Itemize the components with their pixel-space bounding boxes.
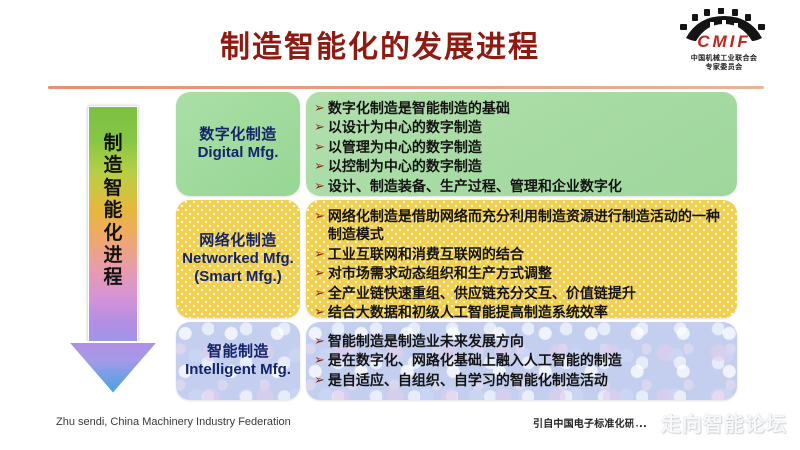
list-item: ➢ 结合大数据和初级人工智能提高制造系统效率	[314, 304, 727, 322]
list-item: ➢ 是自适应、自组织、自学习的智能化制造活动	[314, 372, 727, 390]
arrow-char-2: 智	[88, 177, 138, 199]
page-title: 制造智能化的发展进程	[0, 22, 760, 66]
forum-watermark: 走向智能论坛	[630, 402, 795, 442]
slide-canvas: 制造智能化的发展进程	[0, 0, 800, 450]
row-content-intelligent: ➢ 智能制造是制造业未来发展方向 ➢ 是在数字化、网路化基础上融入人工智能的制造…	[306, 322, 737, 400]
bullet-text: 网络化制造是借助网络而充分利用制造资源进行制造活动的一种制造模式	[328, 208, 727, 245]
title-divider	[48, 86, 764, 89]
arrow-char-0: 制	[88, 132, 138, 154]
row-content-digital: ➢ 数字化制造是智能制造的基础 ➢ 以设计为中心的数字制造 ➢ 以管理为中心的数…	[306, 92, 737, 196]
bullet-text: 对市场需求动态组织和生产方式调整	[328, 265, 727, 283]
list-item: ➢ 以控制为中心的数字制造	[314, 158, 727, 176]
bullet-text: 结合大数据和初级人工智能提高制造系统效率	[328, 304, 727, 322]
bullet-text: 以设计为中心的数字制造	[328, 119, 727, 137]
row-content-networked: ➢ 网络化制造是借助网络而充分利用制造资源进行制造活动的一种制造模式 ➢ 工业互…	[306, 200, 737, 318]
progress-arrow: 制 造 智 能 化 进 程	[66, 106, 160, 396]
list-item: ➢ 全产业链快速重组、供应链充分交互、价值链提升	[314, 285, 727, 303]
bullet-text: 数字化制造是智能制造的基础	[328, 100, 727, 118]
bullet-arrow-icon: ➢	[314, 333, 325, 350]
watermark-text: 走向智能论坛	[661, 408, 787, 437]
bullet-arrow-icon: ➢	[314, 158, 325, 175]
row-label-en: Intelligent Mfg.	[185, 361, 291, 380]
row-label-en-alt: (Smart Mfg.)	[194, 268, 282, 287]
list-item: ➢ 网络化制造是借助网络而充分利用制造资源进行制造活动的一种制造模式	[314, 208, 727, 245]
cmif-logo: CMIF 中国机械工业联合会 专家委员会	[666, 8, 782, 78]
row-label-cn: 网络化制造	[199, 231, 277, 250]
row-label-digital: 数字化制造 Digital Mfg.	[176, 92, 300, 196]
arrow-char-3: 能	[88, 199, 138, 221]
arrow-char-1: 造	[88, 154, 138, 176]
list-item: ➢ 对市场需求动态组织和生产方式调整	[314, 265, 727, 283]
arrow-head	[66, 340, 160, 396]
row-label-cn: 智能制造	[207, 342, 269, 361]
bullet-text: 以管理为中心的数字制造	[328, 139, 727, 157]
bullet-arrow-icon: ➢	[314, 285, 325, 302]
row-label-cn: 数字化制造	[199, 125, 277, 144]
list-item: ➢ 工业互联网和消费互联网的结合	[314, 246, 727, 264]
list-item: ➢ 以设计为中心的数字制造	[314, 119, 727, 137]
bullet-arrow-icon: ➢	[314, 178, 325, 195]
bullet-arrow-icon: ➢	[314, 265, 325, 282]
row-label-intelligent: 智能制造 Intelligent Mfg.	[176, 322, 300, 400]
author-attribution: Zhu sendi, China Machinery Industry Fede…	[56, 416, 291, 428]
bullet-text: 全产业链快速重组、供应链充分交互、价值链提升	[328, 285, 727, 303]
bullet-text: 工业互联网和消费互联网的结合	[328, 246, 727, 264]
bullet-arrow-icon: ➢	[314, 119, 325, 136]
row-label-en: Networked Mfg.	[182, 250, 294, 269]
bullet-text: 以控制为中心的数字制造	[328, 158, 727, 176]
bullet-arrow-icon: ➢	[314, 100, 325, 117]
list-item: ➢ 设计、制造装备、生产过程、管理和企业数字化	[314, 178, 727, 196]
logo-cn-line2: 专家委员会	[666, 62, 782, 72]
bullet-arrow-icon: ➢	[314, 139, 325, 156]
bullet-arrow-icon: ➢	[314, 372, 325, 389]
bullet-text: 智能制造是制造业未来发展方向	[328, 333, 727, 351]
bullet-text: 是自适应、自组织、自学习的智能化制造活动	[328, 372, 727, 390]
arrow-char-6: 程	[88, 266, 138, 288]
list-item: ➢ 是在数字化、网路化基础上融入人工智能的制造	[314, 352, 727, 370]
arrow-label: 制 造 智 能 化 进 程	[88, 132, 138, 289]
list-item: ➢ 数字化制造是智能制造的基础	[314, 100, 727, 118]
logo-acronym: CMIF	[666, 32, 782, 52]
watermark-logo-icon	[630, 409, 656, 435]
bullet-arrow-icon: ➢	[314, 208, 325, 225]
arrow-char-5: 进	[88, 244, 138, 266]
bullet-text: 设计、制造装备、生产过程、管理和企业数字化	[328, 178, 727, 196]
bullet-arrow-icon: ➢	[314, 352, 325, 369]
row-label-networked: 网络化制造 Networked Mfg. (Smart Mfg.)	[176, 200, 300, 318]
list-item: ➢ 智能制造是制造业未来发展方向	[314, 333, 727, 351]
bullet-arrow-icon: ➢	[314, 304, 325, 321]
list-item: ➢ 以管理为中心的数字制造	[314, 139, 727, 157]
row-label-en: Digital Mfg.	[198, 144, 279, 163]
bullet-arrow-icon: ➢	[314, 246, 325, 263]
arrow-char-4: 化	[88, 222, 138, 244]
bullet-text: 是在数字化、网路化基础上融入人工智能的制造	[328, 352, 727, 370]
